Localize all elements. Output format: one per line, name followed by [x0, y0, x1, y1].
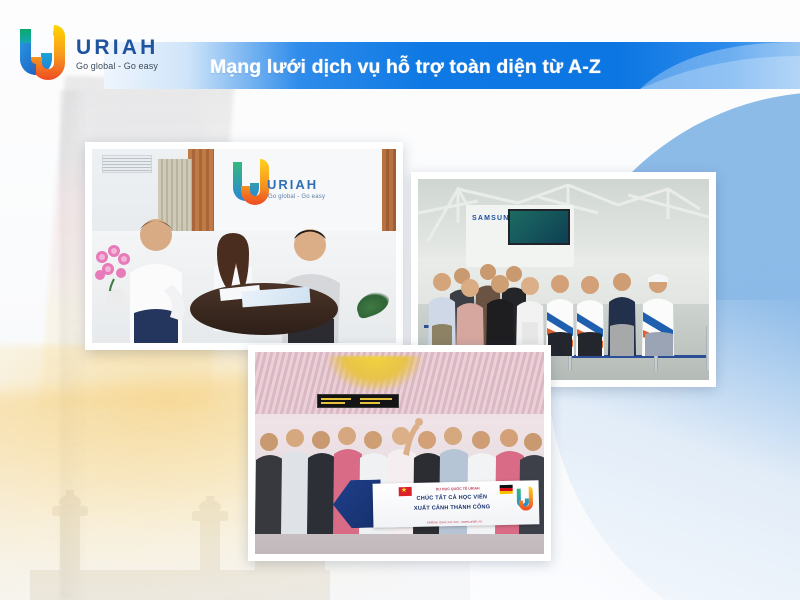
photo-banner-group[interactable]: DU HỌC QUỐC TẾ URIAH CHÚC TẤT CẢ HỌC VIÊ…	[248, 345, 551, 561]
congratulation-banner: DU HỌC QUỐC TẾ URIAH CHÚC TẤT CẢ HỌC VIÊ…	[373, 480, 540, 527]
poster-canvas: Mạng lưới dịch vụ hỗ trợ toàn diện từ A-…	[0, 0, 800, 600]
wall-logo-name: URIAH	[267, 177, 318, 192]
airport-group-people	[426, 260, 706, 356]
brand-tagline: Go global - Go easy	[76, 61, 159, 72]
brand-logo[interactable]: URIAH Go global - Go easy	[14, 23, 199, 85]
banner-top-line: DU HỌC QUỐC TẾ URIAH	[417, 486, 499, 492]
photo-consultation[interactable]: URIAH Go global - Go easy	[85, 142, 403, 350]
vietnam-flag-icon	[399, 487, 412, 496]
banner-uriah-logo-icon	[514, 485, 537, 513]
flight-info-board	[317, 394, 399, 408]
uriah-u-logo-icon	[14, 23, 72, 85]
banner-line-2: XUẤT CẢNH THÀNH CÔNG	[399, 504, 505, 512]
photo-consultation-image: URIAH Go global - Go easy	[92, 149, 396, 343]
banner-line-1: CHÚC TẤT CẢ HỌC VIÊN	[399, 494, 505, 502]
header-banner-text: Mạng lưới dịch vụ hỗ trợ toàn diện từ A-…	[210, 50, 770, 84]
germany-flag-icon	[500, 485, 513, 494]
wall-logo-tagline: Go global - Go easy	[268, 194, 325, 200]
brand-logo-name: URIAH	[76, 37, 159, 59]
person-consultant	[116, 215, 204, 343]
banner-bottom-line: Hotline: 0xxx xxx xxx - www.uriah.vn	[403, 519, 505, 525]
brand-logo-text-block: URIAH Go global - Go easy	[76, 37, 159, 72]
photo-banner-group-image: DU HỌC QUỐC TẾ URIAH CHÚC TẤT CẢ HỌC VIÊ…	[255, 352, 544, 554]
